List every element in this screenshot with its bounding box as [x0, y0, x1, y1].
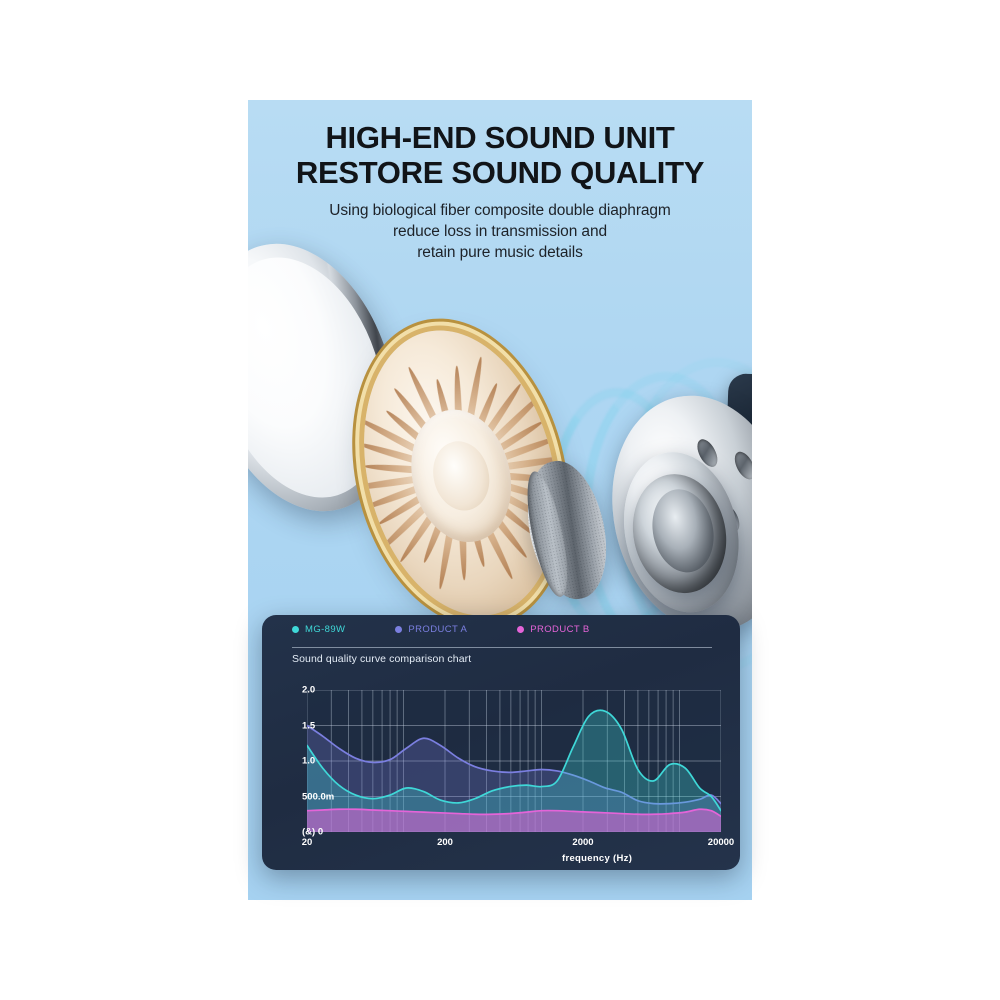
- curve-svg: [307, 690, 721, 832]
- grille-hole: [277, 393, 309, 427]
- headline-line-2: RESTORE SOUND QUALITY: [248, 155, 752, 190]
- headline-block: HIGH-END SOUND UNIT RESTORE SOUND QUALIT…: [248, 120, 752, 263]
- legend-dot-icon: [292, 626, 299, 633]
- subhead-line-1: Using biological fiber composite double …: [248, 200, 752, 221]
- legend-label: MG-89W: [305, 624, 345, 635]
- subhead-line-2: reduce loss in transmission and: [248, 221, 752, 242]
- grille-hole: [270, 323, 303, 361]
- legend-item[interactable]: MG-89W: [292, 624, 345, 635]
- subhead-line-3: retain pure music details: [248, 242, 752, 263]
- legend-item[interactable]: PRODUCT A: [395, 624, 467, 635]
- headline-line-1: HIGH-END SOUND UNIT: [248, 120, 752, 155]
- x-tick-label: 2000: [572, 837, 593, 848]
- x-tick-label: 20: [302, 837, 313, 848]
- legend-label: PRODUCT B: [530, 624, 589, 635]
- legend-label: PRODUCT A: [408, 624, 467, 635]
- chart-plot-area: [307, 690, 721, 832]
- legend-divider: [292, 647, 712, 648]
- legend-item[interactable]: PRODUCT B: [517, 624, 589, 635]
- chart-legend: MG-89WPRODUCT APRODUCT B: [292, 624, 590, 635]
- grille-hole: [265, 441, 296, 470]
- grille-hole: [248, 315, 257, 351]
- x-tick-label: 20000: [708, 837, 734, 848]
- x-axis-title: frequency (Hz): [562, 853, 632, 864]
- legend-dot-icon: [517, 626, 524, 633]
- legend-dot-icon: [395, 626, 402, 633]
- x-tick-label: 200: [437, 837, 453, 848]
- chart-subtitle: Sound quality curve comparison chart: [292, 653, 471, 665]
- sound-curve-chart-card: MG-89WPRODUCT APRODUCT B Sound quality c…: [262, 615, 740, 870]
- poster-page: HIGH-END SOUND UNIT RESTORE SOUND QUALIT…: [0, 0, 1000, 1000]
- grille-hole: [248, 385, 264, 415]
